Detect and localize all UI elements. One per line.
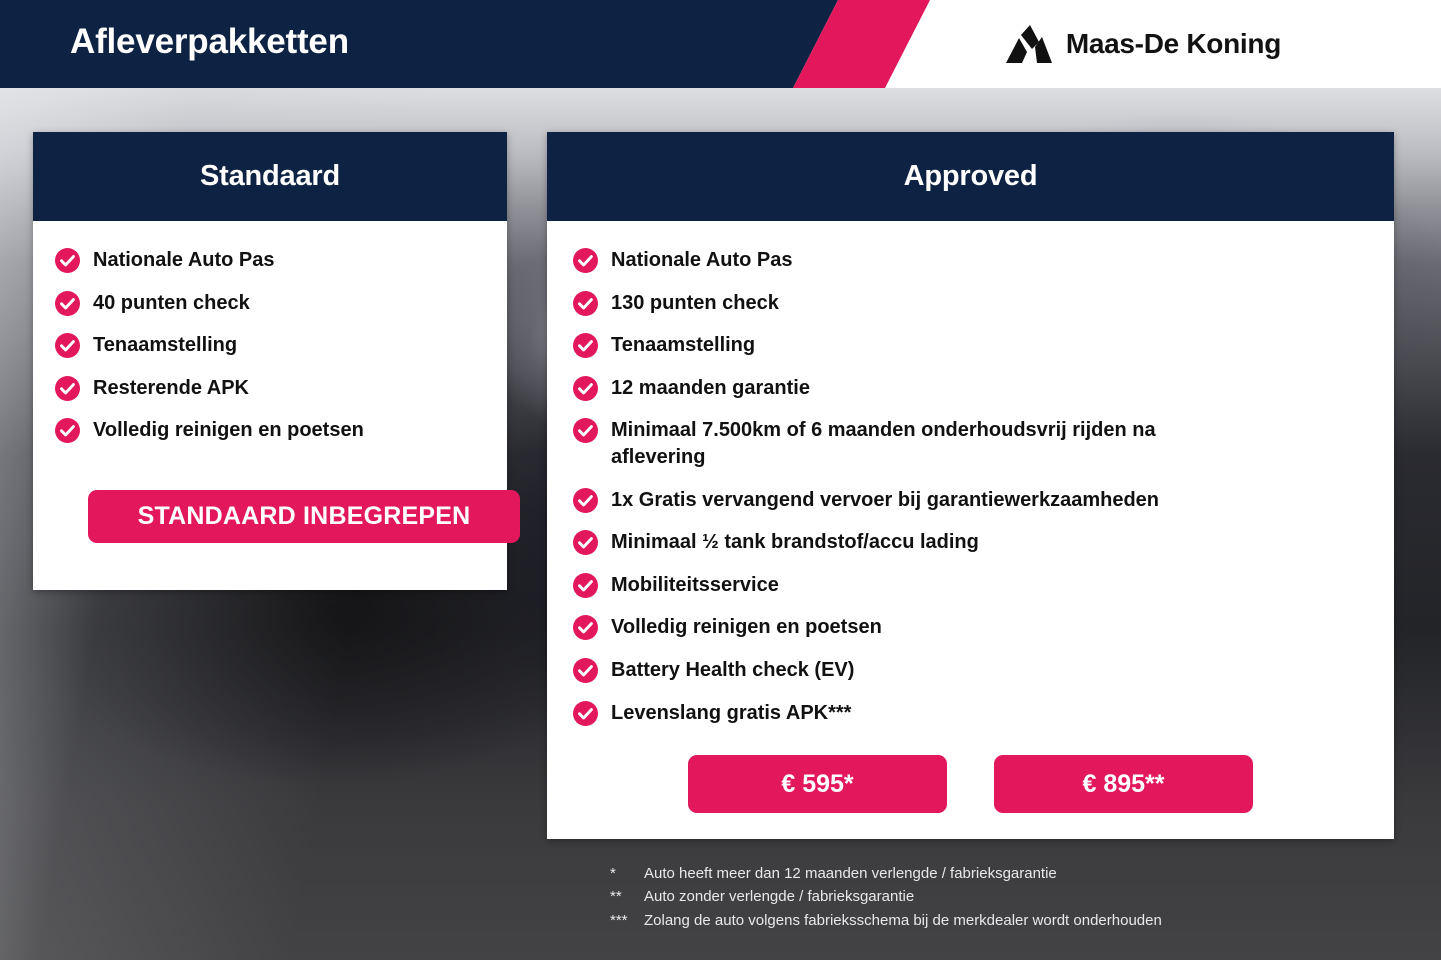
check-circle-icon [55,248,80,273]
check-circle-icon [55,291,80,316]
feature-list-approved: Nationale Auto Pas 130 punten check Tena… [547,221,1394,726]
check-circle-icon [573,248,598,273]
list-item: Resterende APK [55,375,507,402]
footnote-text: Auto zonder verlengde / fabrieksgarantie [644,885,914,908]
check-circle-icon [573,291,598,316]
feature-label: Tenaamstelling [611,332,755,359]
package-card-approved: Approved Nationale Auto Pas 130 punten c… [547,132,1394,839]
feature-label: Minimaal ½ tank brandstof/accu lading [611,529,979,556]
feature-label: 1x Gratis vervangend vervoer bij garanti… [611,487,1159,514]
feature-label: Minimaal 7.500km of 6 maanden onderhouds… [611,417,1251,470]
check-circle-icon [55,376,80,401]
list-item: Tenaamstelling [55,332,507,359]
package-card-approved-header: Approved [547,132,1394,221]
list-item: 130 punten check [573,290,1372,317]
package-card-standaard-header: Standaard [33,132,507,221]
list-item: Volledig reinigen en poetsen [55,417,507,444]
list-item: Volledig reinigen en poetsen [573,614,1372,641]
list-item: Levenslang gratis APK*** [573,700,1372,727]
feature-label: Levenslang gratis APK*** [611,700,851,727]
feature-list-standaard: Nationale Auto Pas 40 punten check Tenaa… [33,221,507,444]
list-item: Tenaamstelling [573,332,1372,359]
footnote-text: Auto heeft meer dan 12 maanden verlengde… [644,862,1057,885]
price-button-895[interactable]: € 895** [994,755,1253,813]
feature-label: Volledig reinigen en poetsen [93,417,364,444]
feature-label: Nationale Auto Pas [93,247,275,274]
footnote-marker: *** [610,909,644,932]
maas-de-koning-m-logo-icon [1006,25,1052,63]
footnote-row: ** Auto zonder verlengde / fabrieksgaran… [610,885,1410,908]
package-title-standaard: Standaard [200,160,340,193]
list-item: 12 maanden garantie [573,375,1372,402]
footnote-row: * Auto heeft meer dan 12 maanden verleng… [610,862,1410,885]
feature-label: Nationale Auto Pas [611,247,793,274]
check-circle-icon [55,418,80,443]
check-circle-icon [573,333,598,358]
page-header: Afleverpakketten Maas-De Koning [0,0,1441,88]
footnote-text: Zolang de auto volgens fabrieksschema bi… [644,909,1162,932]
price-button-595[interactable]: € 595* [688,755,947,813]
poster-canvas: Afleverpakketten Maas-De Koning Standaar… [0,0,1441,960]
check-circle-icon [573,701,598,726]
list-item: Mobiliteitsservice [573,572,1372,599]
feature-label: Mobiliteitsservice [611,572,779,599]
footnote-row: *** Zolang de auto volgens fabrieksschem… [610,909,1410,932]
check-circle-icon [573,376,598,401]
footnotes-block: * Auto heeft meer dan 12 maanden verleng… [610,862,1410,932]
check-circle-icon [573,488,598,513]
price-button-row: € 595* € 895** [547,755,1394,813]
package-title-approved: Approved [904,160,1038,193]
list-item: Minimaal 7.500km of 6 maanden onderhouds… [573,417,1372,470]
list-item: Nationale Auto Pas [573,247,1372,274]
brand-lockup: Maas-De Koning [1006,25,1281,63]
check-circle-icon [573,573,598,598]
footnote-marker: * [610,862,644,885]
brand-name: Maas-De Koning [1066,28,1281,60]
check-circle-icon [573,530,598,555]
check-circle-icon [573,615,598,640]
feature-label: 40 punten check [93,290,250,317]
package-card-standaard: Standaard Nationale Auto Pas 40 punten c… [33,132,507,590]
list-item: 1x Gratis vervangend vervoer bij garanti… [573,487,1372,514]
feature-label: Volledig reinigen en poetsen [611,614,882,641]
list-item: 40 punten check [55,290,507,317]
list-item: Nationale Auto Pas [55,247,507,274]
feature-label: 12 maanden garantie [611,375,810,402]
feature-label: Resterende APK [93,375,249,402]
page-title: Afleverpakketten [70,22,349,62]
check-circle-icon [573,418,598,443]
standaard-included-button[interactable]: STANDAARD INBEGREPEN [88,490,520,543]
list-item: Minimaal ½ tank brandstof/accu lading [573,529,1372,556]
list-item: Battery Health check (EV) [573,657,1372,684]
feature-label: Tenaamstelling [93,332,237,359]
feature-label: Battery Health check (EV) [611,657,854,684]
check-circle-icon [55,333,80,358]
feature-label: 130 punten check [611,290,779,317]
footnote-marker: ** [610,885,644,908]
check-circle-icon [573,658,598,683]
